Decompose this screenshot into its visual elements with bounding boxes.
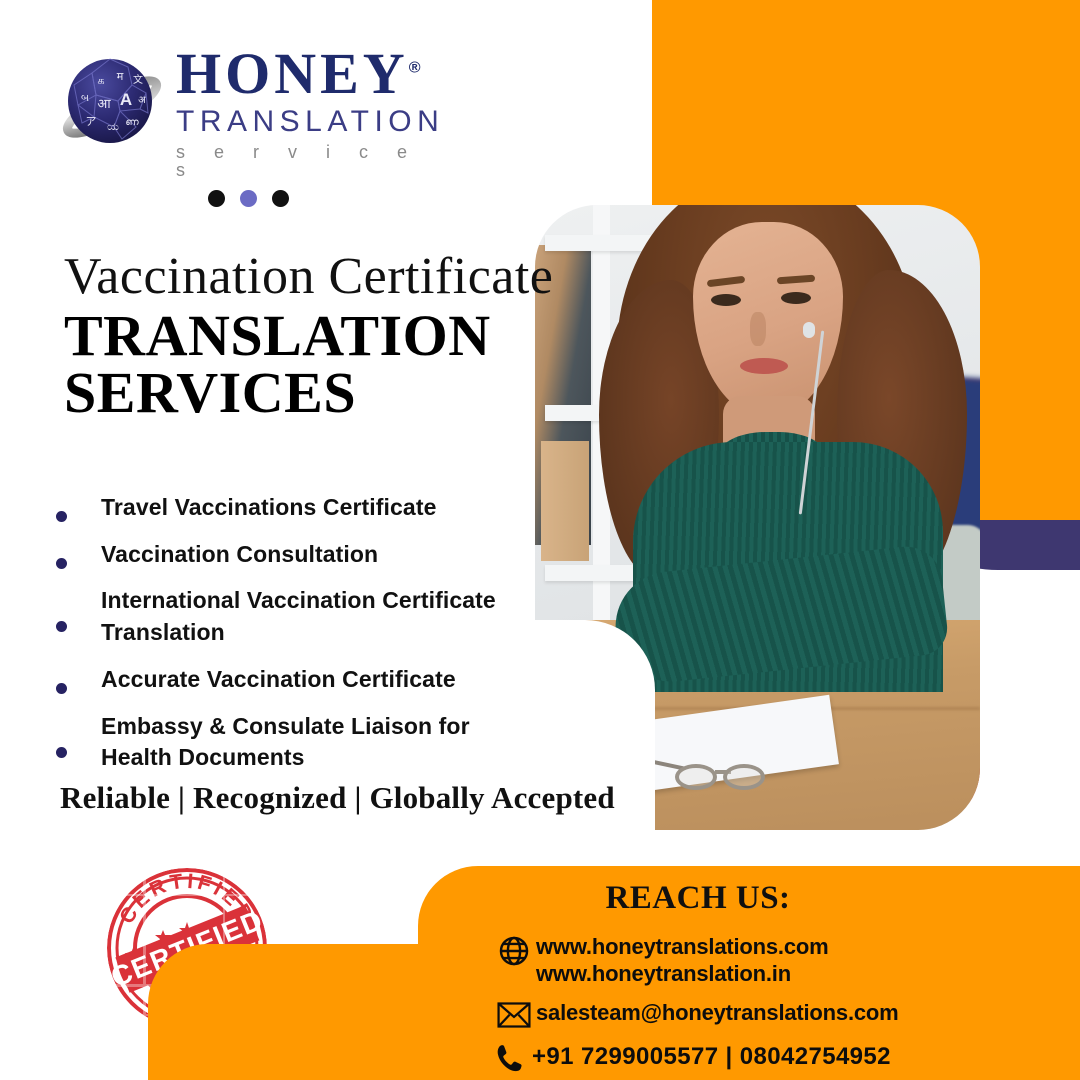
list-item-label: Travel Vaccinations Certificate xyxy=(101,492,436,524)
headline-line-1: TRANSLATION xyxy=(64,308,491,365)
logo-brand-name: HONEY® xyxy=(176,45,444,103)
email-address[interactable]: salesteam@honeytranslations.com xyxy=(536,1000,899,1027)
website-links[interactable]: www.honeytranslations.com www.honeytrans… xyxy=(536,934,828,988)
svg-text:બ: બ xyxy=(81,93,89,104)
list-item-label: Embassy & Consulate Liaison for Health D… xyxy=(101,711,536,774)
headline-script: Vaccination Certificate xyxy=(64,247,553,306)
svg-text:आ: आ xyxy=(97,96,111,111)
svg-text:க: க xyxy=(97,75,104,87)
svg-text:ಯ: ಯ xyxy=(107,121,119,133)
bullet-icon xyxy=(56,511,67,522)
bullet-icon xyxy=(56,683,67,694)
globe-languages-icon: க म 文 બ आ A अ ア ಯ ണ xyxy=(58,51,166,159)
headline-main: TRANSLATION SERVICES xyxy=(64,308,491,422)
bullet-icon xyxy=(56,621,67,632)
logo-dots xyxy=(208,190,289,207)
dot-3 xyxy=(272,190,289,207)
eyeglasses xyxy=(675,760,785,794)
dot-1 xyxy=(208,190,225,207)
list-item: Travel Vaccinations Certificate xyxy=(56,492,536,524)
svg-text:म: म xyxy=(117,71,124,83)
website-line-2[interactable]: www.honeytranslation.in xyxy=(536,961,828,988)
logo-subtitle: TRANSLATION xyxy=(176,107,444,137)
list-item: International Vaccination Certificate Tr… xyxy=(56,585,536,648)
tagline: Reliable | Recognized | Globally Accepte… xyxy=(60,780,615,816)
svg-text:A: A xyxy=(120,90,132,109)
list-item: Accurate Vaccination Certificate xyxy=(56,664,536,696)
registered-mark: ® xyxy=(409,60,421,77)
services-list: Travel Vaccinations Certificate Vaccinat… xyxy=(56,492,536,789)
bullet-icon xyxy=(56,558,67,569)
contact-details: www.honeytranslations.com www.honeytrans… xyxy=(492,934,1052,1080)
footer-step-shape xyxy=(148,944,448,1080)
dot-2 xyxy=(240,190,257,207)
phone-icon xyxy=(488,1042,532,1076)
contact-footer: REACH US: www.honeytranslations.com www.… xyxy=(0,866,1080,1080)
reach-us-title: REACH US: xyxy=(418,880,978,917)
brand-logo: க म 文 બ आ A अ ア ಯ ണ HONEY® TRANSLATION s… xyxy=(58,45,418,170)
poster-canvas: க म 文 બ आ A अ ア ಯ ണ HONEY® TRANSLATION s… xyxy=(0,0,1080,1080)
bullet-icon xyxy=(56,747,67,758)
logo-tertiary: s e r v i c e s xyxy=(176,143,444,179)
list-item: Vaccination Consultation xyxy=(56,539,536,571)
svg-text:文: 文 xyxy=(133,73,143,86)
phone-numbers[interactable]: +91 7299005577 | 08042754952 xyxy=(532,1042,891,1071)
person-figure xyxy=(605,205,965,680)
svg-text:अ: अ xyxy=(138,95,146,106)
list-item-label: Accurate Vaccination Certificate xyxy=(101,664,456,696)
headline-line-2: SERVICES xyxy=(64,365,491,422)
list-item: Embassy & Consulate Liaison for Health D… xyxy=(56,711,536,774)
svg-text:ണ: ണ xyxy=(125,117,139,128)
globe-icon xyxy=(492,934,536,968)
svg-text:ア: ア xyxy=(86,116,97,128)
contact-phone-row[interactable]: +91 7299005577 | 08042754952 xyxy=(492,1042,1052,1076)
contact-email-row[interactable]: salesteam@honeytranslations.com xyxy=(492,1000,1052,1030)
envelope-icon xyxy=(492,1000,536,1030)
contact-website-row[interactable]: www.honeytranslations.com www.honeytrans… xyxy=(492,934,1052,988)
list-item-label: Vaccination Consultation xyxy=(101,539,378,571)
list-item-label: International Vaccination Certificate Tr… xyxy=(101,585,536,648)
website-line-1[interactable]: www.honeytranslations.com xyxy=(536,934,828,959)
